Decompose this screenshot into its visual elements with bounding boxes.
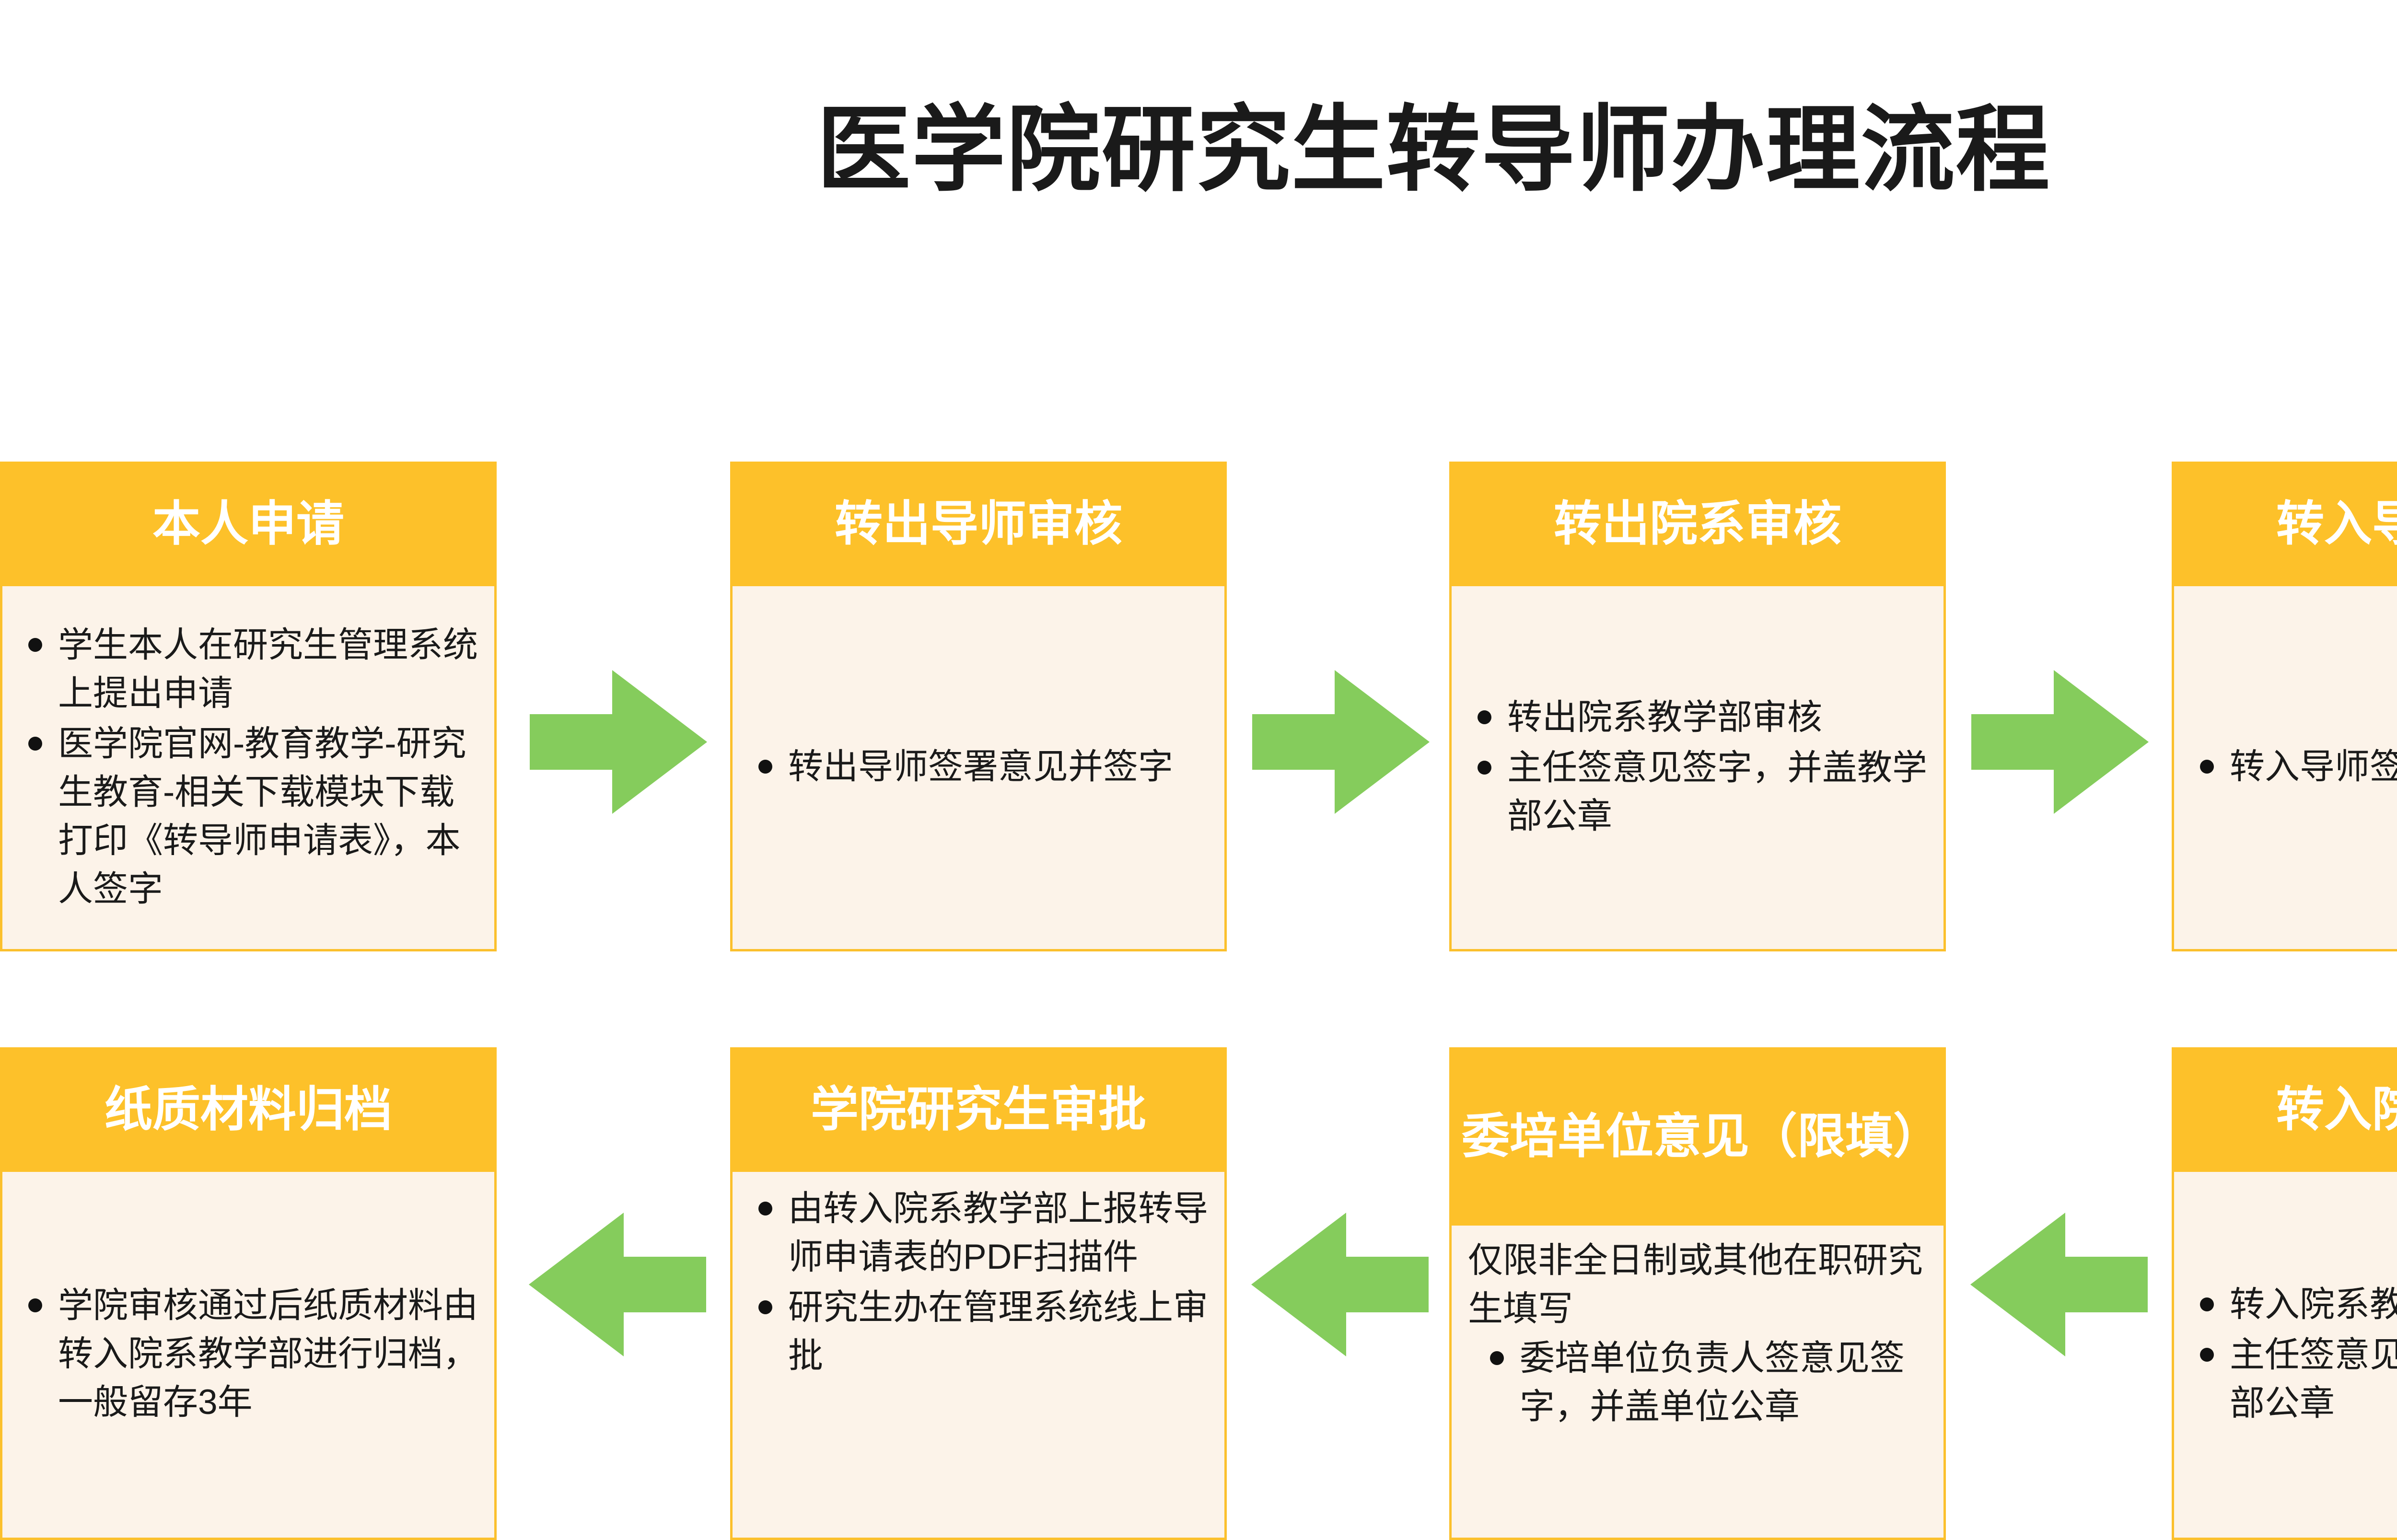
step-1-body: 学生本人在研究生管理系统上提出申请 医学院官网-教育教学-研究生教育-相关下载模… (0, 586, 497, 951)
list-item: 医学院官网-教育教学-研究生教育-相关下载模块下载打印《转导师申请表》，本人签字 (22, 719, 478, 913)
flow-step-card-5: 转入院系审核 转入院系教学部审核 主任签意见签字，并盖教学部公章 (2172, 1047, 2397, 1540)
arrow-left-icon-2 (1251, 1213, 1429, 1356)
page-title: 医学院研究生转导师办理流程 (0, 95, 2397, 205)
list-item: 研究生办在管理系统线上审批 (752, 1283, 1208, 1380)
step-3-body: 转出院系教学部审核 主任签意见签字，并盖教学部公章 (1449, 586, 1946, 951)
flow-step-card-7: 学院研究生审批 由转入院系教学部上报转导师申请表的PDF扫描件 研究生办在管理系… (730, 1047, 1227, 1540)
arrow-left-icon-1 (1970, 1213, 2148, 1356)
list-item: 主任签意见签字，并盖教学部公章 (1471, 743, 1927, 840)
step-7-body: 由转入院系教学部上报转导师申请表的PDF扫描件 研究生办在管理系统线上审批 (730, 1172, 1227, 1540)
list-item: 由转入院系教学部上报转导师申请表的PDF扫描件 (752, 1184, 1208, 1281)
flow-step-card-6: 委培单位意见（限填） 仅限非全日制或其他在职研究生填写 委培单位负责人签意见签字… (1449, 1047, 1946, 1540)
flow-step-card-4: 转入导师审核 转入导师签署意见并签字 (2172, 462, 2397, 951)
list-item: 学生本人在研究生管理系统上提出申请 (22, 621, 478, 718)
flow-step-card-2: 转出导师审核 转出导师签署意见并签字 (730, 462, 1227, 951)
flow-step-card-1: 本人申请 学生本人在研究生管理系统上提出申请 医学院官网-教育教学-研究生教育-… (0, 462, 497, 951)
arrow-right-icon-1 (530, 670, 707, 814)
list-item: 转出院系教学部审核 (1471, 693, 1927, 741)
step-7-header: 学院研究生审批 (730, 1047, 1227, 1172)
list-item: 转出导师签署意见并签字 (752, 742, 1208, 791)
step-6-header: 委培单位意见（限填） (1449, 1047, 1946, 1226)
flow-step-card-8: 纸质材料归档 学院审核通过后纸质材料由转入院系教学部进行归档，一般留存3年 (0, 1047, 497, 1540)
step-6-bullets: 委培单位负责人签意见签字，并盖单位公章 (1468, 1334, 1929, 1433)
step-2-header: 转出导师审核 (730, 462, 1227, 586)
arrow-right-icon-2 (1252, 670, 1430, 814)
list-item: 转入院系教学部审核 (2193, 1280, 2397, 1329)
step-5-body: 转入院系教学部审核 主任签意见签字，并盖教学部公章 (2172, 1172, 2397, 1540)
step-5-header: 转入院系审核 (2172, 1047, 2397, 1172)
list-item: 学院审核通过后纸质材料由转入院系教学部进行归档，一般留存3年 (22, 1281, 478, 1426)
step-4-header: 转入导师审核 (2172, 462, 2397, 586)
list-item: 委培单位负责人签意见签字，并盖单位公章 (1468, 1334, 1929, 1431)
list-item: 转入导师签署意见并签字 (2193, 742, 2397, 791)
step-8-header: 纸质材料归档 (0, 1047, 497, 1172)
step-1-header: 本人申请 (0, 462, 497, 586)
step-4-body: 转入导师签署意见并签字 (2172, 586, 2397, 951)
step-2-body: 转出导师签署意见并签字 (730, 586, 1227, 951)
body-paragraph: 仅限非全日制或其他在职研究生填写 (1468, 1236, 1929, 1333)
step-6-body: 仅限非全日制或其他在职研究生填写 委培单位负责人签意见签字，并盖单位公章 (1449, 1226, 1946, 1540)
arrow-left-icon-3 (529, 1213, 706, 1356)
arrow-right-icon-3 (1971, 670, 2149, 814)
step-3-header: 转出院系审核 (1449, 462, 1946, 586)
list-item: 主任签意见签字，并盖教学部公章 (2193, 1331, 2397, 1427)
step-8-body: 学院审核通过后纸质材料由转入院系教学部进行归档，一般留存3年 (0, 1172, 497, 1540)
flow-step-card-3: 转出院系审核 转出院系教学部审核 主任签意见签字，并盖教学部公章 (1449, 462, 1946, 951)
